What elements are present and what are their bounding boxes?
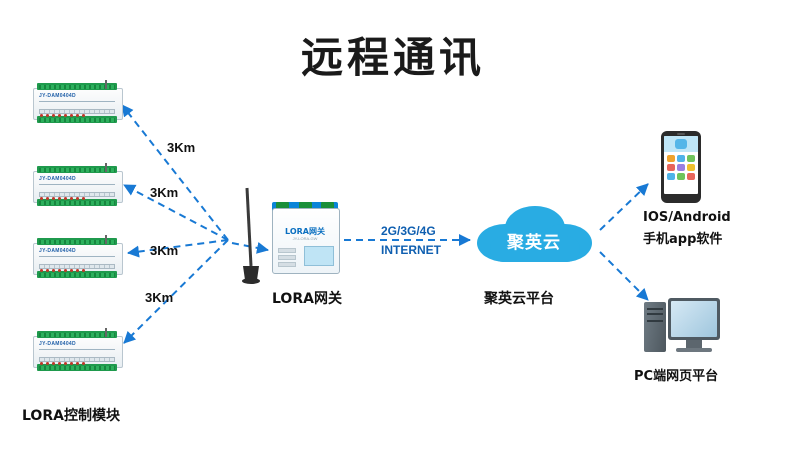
distance-label-3: 3Km	[150, 243, 178, 258]
phone-caption-line2: 手机app软件	[643, 228, 722, 247]
pc-tower	[644, 302, 666, 352]
lora-modules-caption: LORA控制模块	[22, 405, 120, 425]
cloud-label: 聚英云	[489, 228, 579, 253]
cloud-caption: 聚英云平台	[484, 288, 554, 308]
lora-module-1[interactable]: JY-DAM0404D	[33, 82, 121, 124]
distance-label-4: 3Km	[145, 290, 173, 305]
phone-app-grid	[664, 152, 698, 183]
phone-app-header	[664, 136, 698, 152]
module-antenna-icon	[105, 163, 107, 172]
pc-monitor	[668, 298, 720, 340]
module-leds	[40, 352, 114, 356]
page-title: 远程通讯	[0, 24, 786, 85]
gateway-screen	[304, 246, 334, 266]
module-antenna-icon	[105, 80, 107, 89]
gateway-caption: LORA网关	[272, 288, 342, 308]
gateway-buttons[interactable]	[278, 248, 298, 262]
pc-monitor-stand	[686, 340, 702, 348]
network-label-line2: INTERNET	[381, 243, 441, 257]
distance-label-2: 3Km	[150, 185, 178, 200]
pc-screen	[671, 301, 717, 337]
module-divider	[39, 184, 115, 185]
module-screw-terminals	[39, 109, 115, 114]
module-leds	[40, 104, 114, 108]
module-antenna-icon	[105, 328, 107, 337]
distance-label-1: 3Km	[167, 140, 195, 155]
module-leds	[40, 187, 114, 191]
network-label-line1: 2G/3G/4G	[381, 224, 436, 238]
module-brand-label: JY-DAM0404D	[39, 93, 76, 99]
diagram-canvas: 远程通讯	[0, 0, 786, 451]
module-brand-label: JY-DAM0404D	[39, 248, 76, 254]
module-terminal-bottom	[37, 271, 117, 278]
lora-module-2[interactable]: JY-DAM0404D	[33, 165, 121, 207]
module-divider	[39, 349, 115, 350]
module-brand-label: JY-DAM0404D	[39, 341, 76, 347]
module-terminal-bottom	[37, 364, 117, 371]
phone-speaker-icon	[677, 133, 685, 135]
phone-screen	[664, 136, 698, 194]
module-screw-terminals	[39, 264, 115, 269]
module-antenna-icon	[105, 235, 107, 244]
module-leds	[40, 259, 114, 263]
pc-caption: PC端网页平台	[634, 365, 718, 384]
module-divider	[39, 101, 115, 102]
pc-monitor-base	[676, 348, 712, 352]
lora-module-3[interactable]: JY-DAM0404D	[33, 237, 121, 279]
module-divider	[39, 256, 115, 257]
smartphone-device[interactable]	[661, 131, 701, 203]
pc-device[interactable]	[644, 298, 720, 360]
module-terminal-bottom	[37, 116, 117, 123]
phone-caption-line1: IOS/Android	[643, 210, 731, 225]
lora-gateway-device[interactable]: LORA网关 JY-LORA-GW	[272, 202, 338, 274]
module-screw-terminals	[39, 357, 115, 362]
gateway-device-sub: JY-LORA-GW	[272, 236, 338, 241]
module-brand-label: JY-DAM0404D	[39, 176, 76, 182]
module-screw-terminals	[39, 192, 115, 197]
module-terminal-bottom	[37, 199, 117, 206]
lora-module-4[interactable]: JY-DAM0404D	[33, 330, 121, 372]
